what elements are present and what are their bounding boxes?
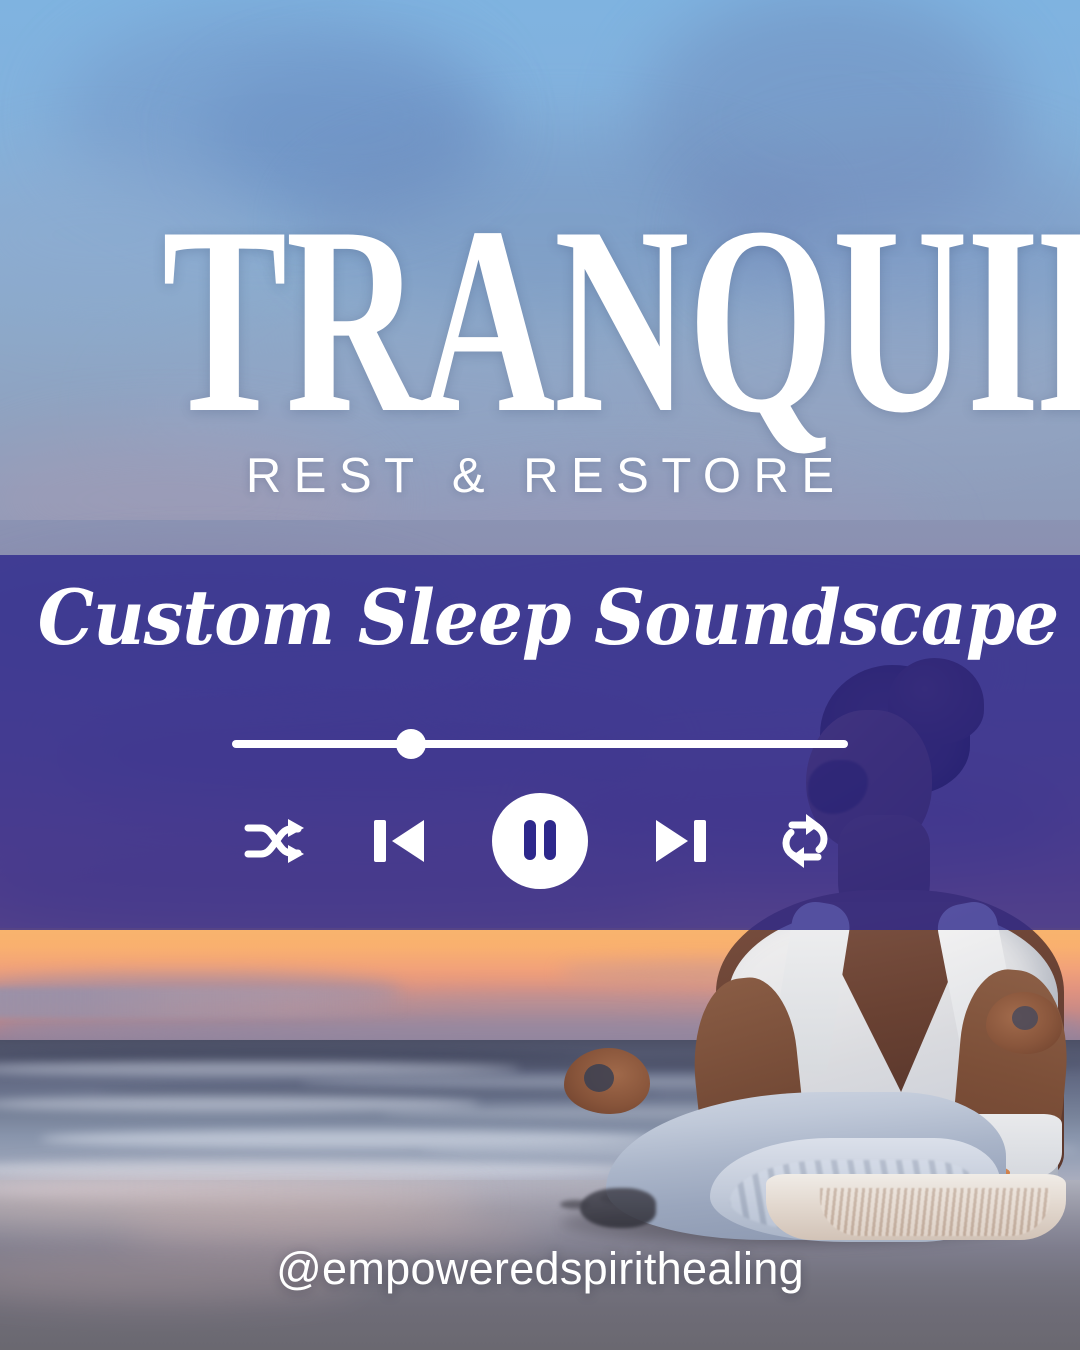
- left-hand-opening: [584, 1064, 614, 1092]
- repeat-button[interactable]: [774, 812, 836, 870]
- next-button[interactable]: [650, 810, 712, 872]
- progress-thumb[interactable]: [396, 729, 426, 759]
- shuffle-icon: [244, 817, 306, 865]
- progress-track[interactable]: [232, 740, 848, 748]
- previous-track-icon: [368, 810, 430, 872]
- repeat-icon: [774, 812, 836, 870]
- pause-icon: [520, 818, 560, 865]
- previous-button[interactable]: [368, 810, 430, 872]
- social-handle: @empoweredspirithealing: [0, 1243, 1080, 1295]
- page-subtitle: REST & RESTORE: [0, 448, 1080, 504]
- right-hand-opening: [1012, 1006, 1038, 1030]
- poster-canvas: TRANQUIL REST & RESTORE Custom Sleep Sou…: [0, 0, 1080, 1350]
- track-title: Custom Sleep Soundscape: [38, 573, 1042, 662]
- next-track-icon: [650, 810, 712, 872]
- page-title: TRANQUIL: [162, 186, 918, 454]
- audio-player-band: Custom Sleep Soundscape: [0, 555, 1080, 930]
- progress-slider[interactable]: [232, 729, 848, 759]
- distant-skyline: [0, 988, 410, 1018]
- pause-button[interactable]: [492, 793, 588, 889]
- foot: [580, 1188, 656, 1228]
- player-controls: [0, 793, 1080, 889]
- hem-fringe-texture: [820, 1188, 1050, 1236]
- shuffle-button[interactable]: [244, 817, 306, 865]
